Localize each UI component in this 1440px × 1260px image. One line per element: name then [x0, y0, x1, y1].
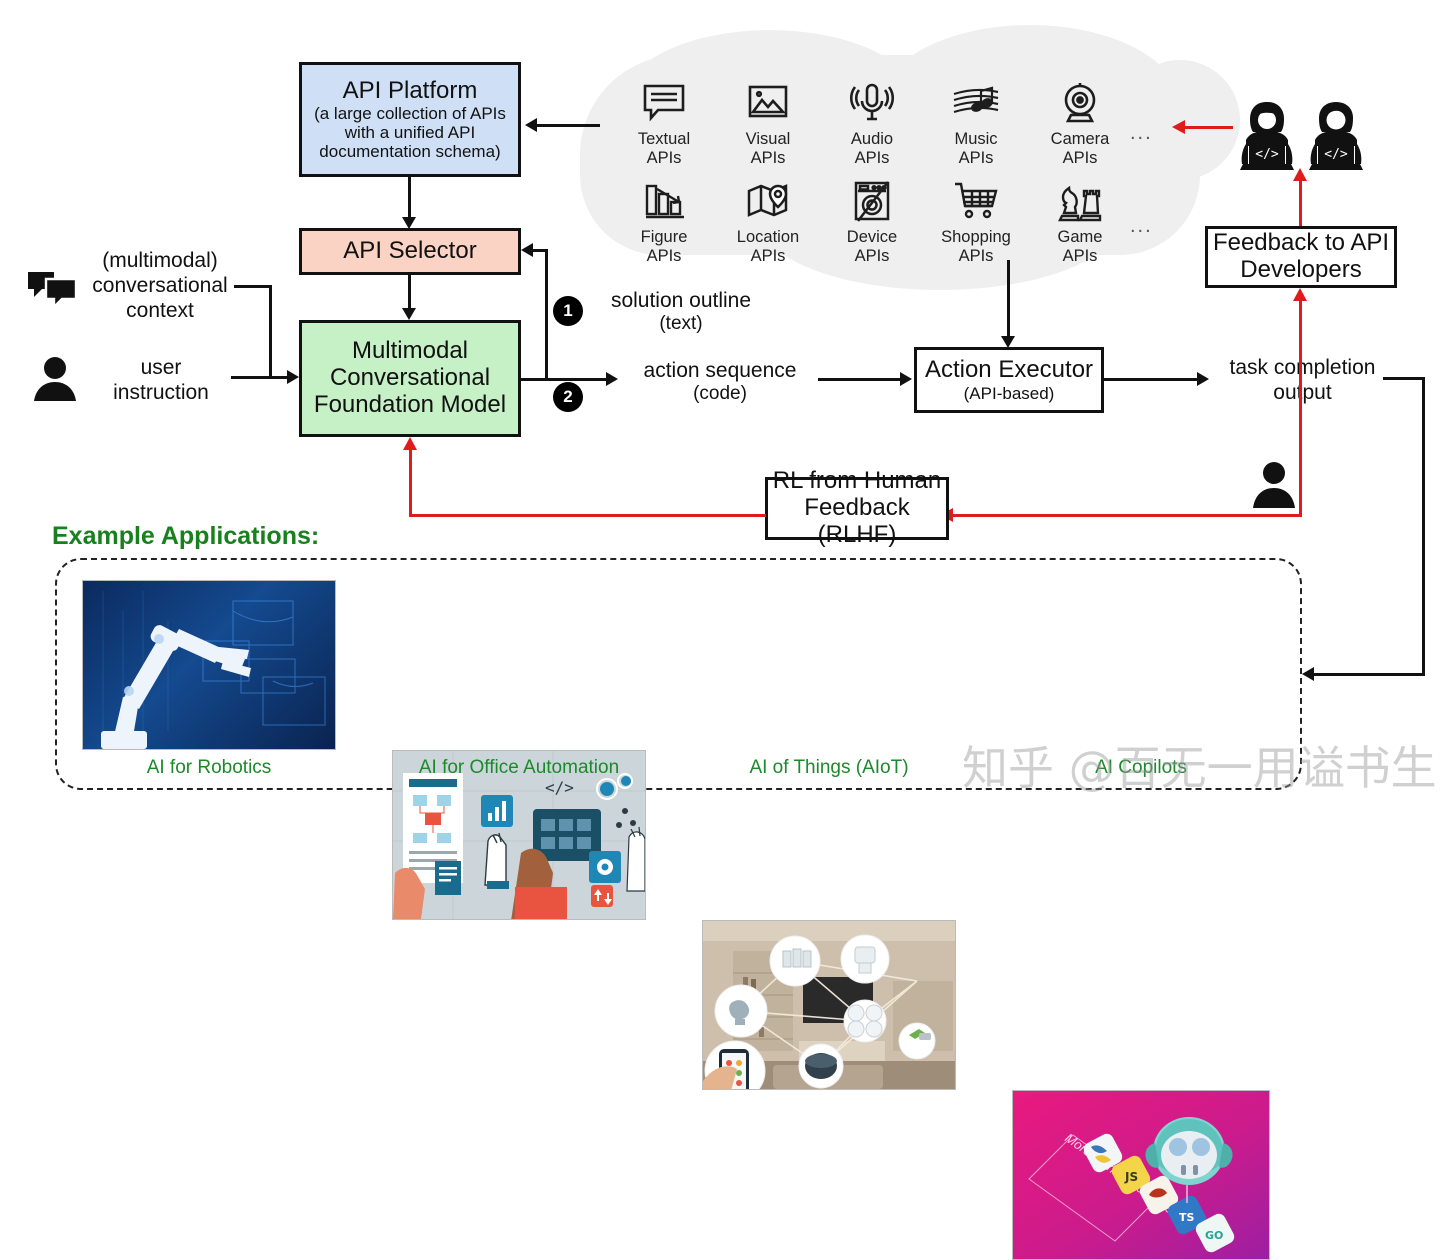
solution-outline-label: solution outline (text)	[595, 288, 767, 336]
badge-step-1: 1	[553, 296, 583, 326]
task-output-line1: task completion	[1210, 355, 1395, 380]
arrowhead-human-to-feedback	[1293, 288, 1307, 301]
api-tile-game[interactable]: GameAPIs	[1028, 170, 1132, 267]
user-instruction-line1: user	[86, 355, 236, 380]
feedback-line1: Feedback to API	[1213, 230, 1389, 257]
api-platform-sub3: documentation schema)	[319, 142, 500, 161]
action-sequence-label: action sequence (code)	[630, 358, 810, 406]
shopping-cart-icon	[924, 170, 1028, 224]
feedback-line2: Developers	[1240, 257, 1361, 284]
svg-text:JS: JS	[1124, 1170, 1138, 1184]
bar-chart-icon	[612, 170, 716, 224]
developer-male-icon: </>	[1302, 100, 1370, 179]
human-evaluator-icon	[1252, 460, 1296, 513]
connector-developers-to-cloud	[1185, 126, 1233, 129]
connector-context-down	[269, 285, 272, 378]
connector-platform-to-selector	[408, 177, 411, 217]
task-completion-output-label: task completion output	[1210, 355, 1395, 405]
arrowhead-selector-to-model	[402, 308, 416, 320]
chess-pieces-icon	[1028, 170, 1132, 224]
connector-cloud-to-platform	[537, 124, 600, 127]
api-platform-box[interactable]: API Platform (a large collection of APIs…	[299, 62, 521, 177]
api-suffix: APIs	[855, 247, 890, 265]
badge-step-2: 2	[553, 382, 583, 412]
api-label: Camera	[1051, 130, 1110, 148]
connector-executor-to-output	[1104, 378, 1197, 381]
api-row1-ellipsis: ...	[1130, 122, 1153, 145]
user-person-icon	[32, 355, 78, 406]
api-label: Music	[954, 130, 997, 148]
api-label: Device	[847, 228, 897, 246]
connector-output-to-apps-vertical	[1422, 377, 1425, 675]
thumbnail-ai-copilots[interactable]: More than autocomplete JS TS GO	[1012, 1090, 1270, 1260]
connector-model-loop-top	[533, 249, 548, 252]
api-tile-textual[interactable]: TextualAPIs	[612, 72, 716, 169]
chat-bubbles-icon	[26, 270, 80, 313]
api-label: Audio	[851, 130, 893, 148]
api-platform-sub1: (a large collection of APIs	[314, 104, 506, 123]
api-suffix: APIs	[855, 149, 890, 167]
connector-action-to-executor	[818, 378, 900, 381]
context-line2: conversational	[80, 273, 240, 298]
action-executor-title: Action Executor	[925, 357, 1093, 384]
user-instruction-label: user instruction	[86, 355, 236, 405]
api-category-row-1: TextualAPIs VisualAPIs AudioAPIs	[612, 72, 1132, 169]
diagram-canvas: TextualAPIs VisualAPIs AudioAPIs	[0, 0, 1440, 813]
action-sequence-sub: (code)	[630, 383, 810, 406]
foundation-model-line3: Foundation Model	[314, 392, 506, 419]
foundation-model-line1: Multimodal	[352, 338, 468, 365]
api-label: Textual	[638, 130, 690, 148]
connector-selector-to-model	[408, 275, 411, 308]
arrowhead-loop-to-selector	[521, 243, 533, 257]
rlhf-line2: Feedback (RLHF)	[768, 495, 946, 549]
connector-cloud-to-executor	[1007, 260, 1010, 336]
api-selector-box[interactable]: API Selector	[299, 228, 521, 275]
connector-inputs-to-model	[231, 376, 287, 379]
svg-text:</>: </>	[1255, 147, 1279, 162]
user-instruction-line2: instruction	[86, 380, 236, 405]
rlhf-line1: RL from Human	[773, 468, 942, 495]
api-tile-music[interactable]: MusicAPIs	[924, 72, 1028, 169]
rlhf-box[interactable]: RL from Human Feedback (RLHF)	[765, 477, 949, 540]
text-bubble-icon	[612, 72, 716, 126]
api-platform-title: API Platform	[343, 78, 478, 105]
webcam-icon	[1028, 72, 1132, 126]
task-output-line2: output	[1210, 380, 1395, 405]
context-line1: (multimodal)	[80, 248, 240, 273]
api-tile-camera[interactable]: CameraAPIs	[1028, 72, 1132, 169]
caption-ai-for-office-automation: AI for Office Automation	[392, 757, 646, 779]
arrowhead-feedback-to-developers	[1293, 168, 1307, 181]
connector-model-to-action	[521, 378, 606, 381]
music-notes-icon	[924, 72, 1028, 126]
api-label: Visual	[746, 130, 791, 148]
svg-text:</>: </>	[1324, 147, 1348, 162]
example-applications-title: Example Applications:	[52, 522, 319, 551]
washing-machine-icon	[820, 170, 924, 224]
api-tile-figure[interactable]: FigureAPIs	[612, 170, 716, 267]
image-picture-icon	[716, 72, 820, 126]
svg-text:GO: GO	[1205, 1229, 1223, 1242]
conversational-context-label: (multimodal) conversational context	[80, 248, 240, 324]
svg-text:TS: TS	[1179, 1211, 1195, 1224]
api-label: Location	[737, 228, 799, 246]
connector-feedback-to-developers	[1299, 180, 1302, 226]
arrowhead-executor-to-output	[1197, 372, 1209, 386]
connector-output-to-apps-top	[1383, 377, 1425, 380]
api-label: Shopping	[941, 228, 1011, 246]
context-line3: context	[80, 298, 240, 323]
svg-text:</>: </>	[545, 778, 574, 797]
api-tile-location[interactable]: LocationAPIs	[716, 170, 820, 267]
api-suffix: APIs	[959, 247, 994, 265]
arrowhead-model-to-action	[606, 372, 618, 386]
connector-output-to-apps-bottom	[1314, 673, 1425, 676]
connector-human-to-rlhf	[952, 514, 1302, 517]
api-suffix: APIs	[1063, 149, 1098, 167]
foundation-model-box[interactable]: Multimodal Conversational Foundation Mod…	[299, 320, 521, 437]
connector-rlhf-to-model-horizontal	[409, 514, 766, 517]
watermark: 知乎 @百无一用谥书生	[962, 732, 1437, 798]
feedback-to-api-developers-box[interactable]: Feedback to API Developers	[1205, 226, 1397, 288]
arrowhead-action-to-executor	[900, 372, 912, 386]
map-pin-icon	[716, 170, 820, 224]
action-executor-sub: (API-based)	[964, 384, 1055, 403]
api-tile-shopping[interactable]: ShoppingAPIs	[924, 170, 1028, 267]
arrowhead-output-to-apps	[1302, 667, 1314, 681]
api-tile-audio[interactable]: AudioAPIs	[820, 72, 924, 169]
microphone-icon	[820, 72, 924, 126]
action-executor-box[interactable]: Action Executor (API-based)	[914, 347, 1104, 413]
api-suffix: APIs	[751, 149, 786, 167]
api-label: Game	[1058, 228, 1103, 246]
api-platform-sub2: with a unified API	[345, 123, 475, 142]
connector-rlhf-to-model-vertical	[409, 450, 412, 516]
connector-model-loop-vertical	[545, 249, 548, 381]
api-category-row-2: FigureAPIs LocationAPIs DeviceAPIs	[612, 170, 1132, 267]
developer-female-icon: </>	[1233, 100, 1301, 179]
api-suffix: APIs	[751, 247, 786, 265]
arrowhead-cloud-to-platform	[525, 118, 537, 132]
api-selector-title: API Selector	[343, 238, 476, 265]
solution-outline-text: solution outline	[595, 288, 767, 313]
api-suffix: APIs	[1063, 247, 1098, 265]
arrowhead-developers-to-cloud	[1172, 120, 1185, 134]
api-tile-device[interactable]: DeviceAPIs	[820, 170, 924, 267]
arrowhead-inputs-to-model	[287, 370, 299, 384]
thumbnail-ai-of-things[interactable]	[702, 920, 956, 1090]
caption-ai-of-things: AI of Things (AIoT)	[702, 757, 956, 779]
api-label: Figure	[641, 228, 688, 246]
thumbnail-ai-for-robotics[interactable]	[82, 580, 336, 750]
arrowhead-rlhf-to-model	[403, 437, 417, 450]
connector-human-to-feedback	[1299, 300, 1302, 516]
connector-context-right	[234, 285, 272, 288]
foundation-model-line2: Conversational	[330, 365, 490, 392]
api-suffix: APIs	[959, 149, 994, 167]
caption-ai-for-robotics: AI for Robotics	[82, 757, 336, 779]
api-suffix: APIs	[647, 149, 682, 167]
solution-outline-sub: (text)	[595, 313, 767, 336]
api-row2-ellipsis: ...	[1130, 215, 1153, 238]
api-suffix: APIs	[647, 247, 682, 265]
api-tile-visual[interactable]: VisualAPIs	[716, 72, 820, 169]
action-sequence-text: action sequence	[630, 358, 810, 383]
